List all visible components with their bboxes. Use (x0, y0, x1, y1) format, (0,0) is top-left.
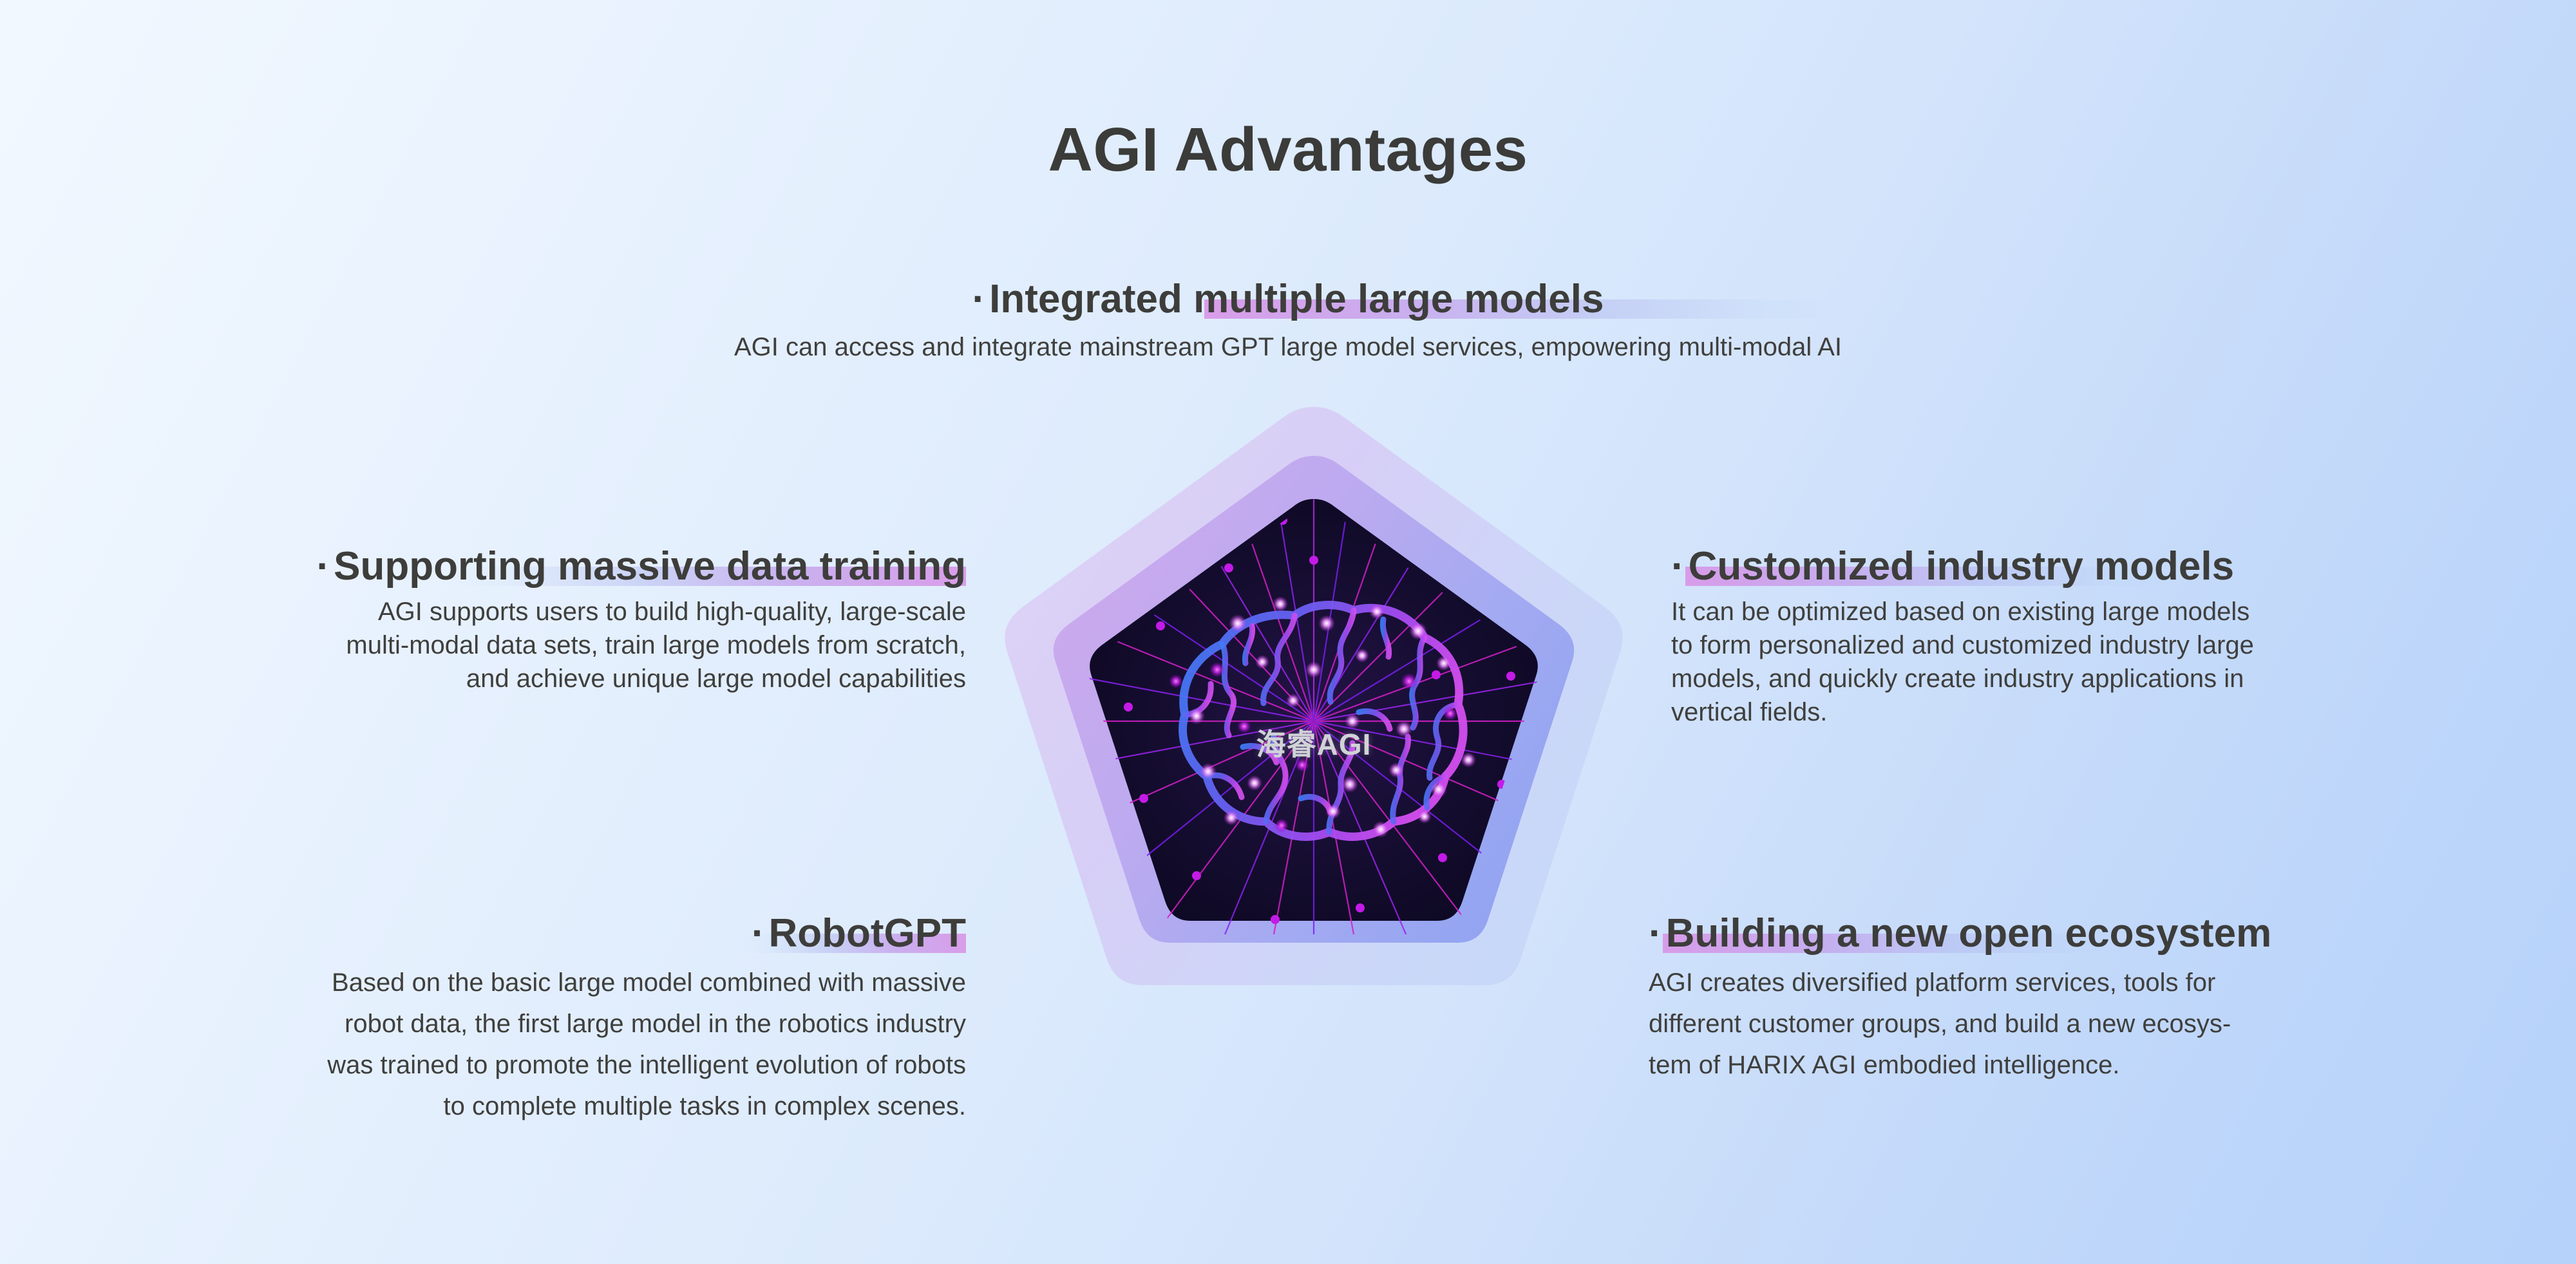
advantage-heading: ·Supporting massive data training (39, 544, 966, 589)
advantage-heading-label: Integrated multiple large models (989, 277, 1604, 321)
advantage-body-line: to complete multiple tasks in complex sc… (39, 1086, 966, 1127)
advantage-block-massive-data-training: ·Supporting massive data training AGI su… (39, 544, 966, 695)
infographic-canvas: AGI Advantages (0, 0, 2576, 1264)
advantage-body-line: and achieve unique large model capabilit… (39, 662, 966, 695)
advantage-block-robotgpt: ·RobotGPT Based on the basic large model… (39, 911, 966, 1127)
advantage-body-line: AGI can access and integrate mainstream … (451, 330, 2125, 364)
bullet-icon: · (972, 277, 986, 321)
advantage-heading-label: Building a new open ecosystem (1666, 911, 2272, 956)
advantage-body-line: to form personalized and customized indu… (1671, 628, 2541, 662)
advantage-body: Based on the basic large model combined … (39, 962, 966, 1127)
advantage-heading-label: Customized industry models (1689, 544, 2234, 589)
advantage-body-line: It can be optimized based on existing la… (1671, 595, 2541, 628)
advantage-block-customized-industry-models: ·Customized industry models It can be op… (1671, 544, 2541, 729)
hero-center-label: 海睿AGI (992, 721, 1636, 764)
advantage-heading-label: Supporting massive data training (334, 544, 966, 589)
bullet-icon: · (1671, 544, 1685, 589)
advantage-body-line: robot data, the first large model in the… (39, 1003, 966, 1044)
advantage-body-line: models, and quickly create industry appl… (1671, 662, 2541, 695)
advantage-body: AGI can access and integrate mainstream … (451, 330, 2125, 364)
advantage-body-line: tem of HARIX AGI embodied intelligence. (1649, 1044, 2544, 1086)
advantage-heading: ·RobotGPT (39, 911, 966, 956)
advantage-heading: ·Integrated multiple large models (451, 277, 2125, 321)
advantage-body: AGI supports users to build high-quality… (39, 595, 966, 695)
advantage-body-line: AGI supports users to build high-quality… (39, 595, 966, 628)
advantage-heading-label: RobotGPT (769, 911, 967, 956)
bullet-icon: · (752, 911, 765, 956)
agi-pentagon-brain-graphic: 海睿AGI (992, 399, 1636, 1108)
advantage-body: It can be optimized based on existing la… (1671, 595, 2541, 729)
advantage-body-line: was trained to promote the intelligent e… (39, 1044, 966, 1086)
advantage-block-open-ecosystem: ·Building a new open ecosystem AGI creat… (1649, 911, 2544, 1086)
advantage-body: AGI creates diversified platform service… (1649, 962, 2544, 1086)
advantage-body-line: AGI creates diversified platform service… (1649, 962, 2544, 1003)
bullet-icon: · (317, 544, 330, 589)
advantage-heading: ·Building a new open ecosystem (1649, 911, 2544, 956)
advantage-body-line: multi-modal data sets, train large model… (39, 628, 966, 662)
advantage-body-line: Based on the basic large model combined … (39, 962, 966, 1003)
advantage-body-line: vertical fields. (1671, 695, 2541, 729)
advantage-body-line: different customer groups, and build a n… (1649, 1003, 2544, 1044)
bullet-icon: · (1649, 911, 1662, 956)
page-title: AGI Advantages (0, 119, 2576, 181)
advantage-block-integrated-models: ·Integrated multiple large models AGI ca… (451, 277, 2125, 364)
advantage-heading: ·Customized industry models (1671, 544, 2541, 589)
